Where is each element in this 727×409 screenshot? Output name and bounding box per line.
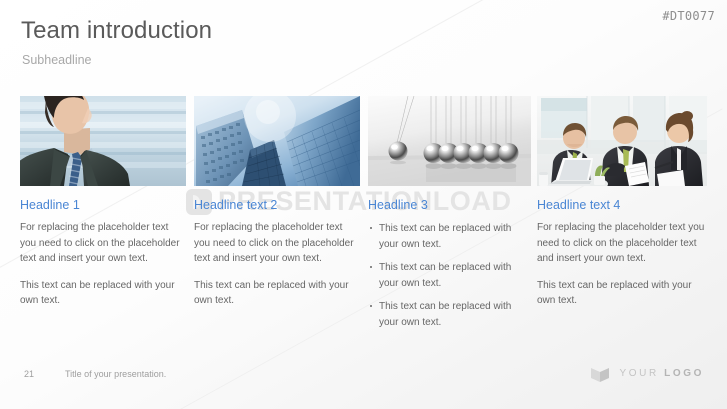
- page-title: Team introduction: [21, 18, 212, 44]
- businessman-portrait-photo: [20, 96, 186, 186]
- column-headline: Headline 1: [20, 198, 186, 213]
- content-column-2: Headline text 2 For replacing the placeh…: [194, 96, 360, 309]
- column-headline: Headline text 4: [537, 198, 707, 213]
- cube-icon: [589, 362, 611, 384]
- page-number: 21: [24, 369, 34, 379]
- logo-text: YOUR LOGO: [619, 368, 704, 379]
- logo-text-light: YOUR: [619, 368, 658, 379]
- list-item: This text can be replaced with your own …: [368, 260, 531, 291]
- column-paragraph: For replacing the placeholder text you n…: [537, 220, 707, 267]
- company-logo: YOUR LOGO: [589, 362, 704, 384]
- content-column-1: Headline 1 For replacing the placeholder…: [20, 96, 186, 309]
- content-column-3: Headline 3 This text can be replaced wit…: [368, 96, 531, 338]
- column-paragraph-secondary: This text can be replaced with your own …: [537, 278, 707, 309]
- page-subtitle: Subheadline: [22, 53, 92, 67]
- column-paragraph: For replacing the placeholder text you n…: [20, 220, 186, 267]
- list-item: This text can be replaced with your own …: [368, 299, 531, 330]
- list-item: This text can be replaced with your own …: [368, 221, 531, 252]
- column-paragraph-secondary: This text can be replaced with your own …: [20, 278, 186, 309]
- business-meeting-photo: [537, 96, 707, 186]
- column-paragraph-secondary: This text can be replaced with your own …: [194, 278, 360, 309]
- template-id-label: #DT0077: [662, 9, 715, 23]
- logo-text-bold: LOGO: [664, 368, 704, 379]
- column-bullet-list: This text can be replaced with your own …: [368, 221, 531, 330]
- footer-presentation-title: Title of your presentation.: [65, 369, 166, 379]
- presentation-slide: Team introduction Subheadline #DT0077 PR…: [0, 0, 727, 409]
- content-column-4: Headline text 4 For replacing the placeh…: [537, 96, 707, 309]
- skyscrapers-photo: [194, 96, 360, 186]
- newtons-cradle-photo: [368, 96, 531, 186]
- column-headline: Headline text 2: [194, 198, 360, 213]
- column-paragraph: For replacing the placeholder text you n…: [194, 220, 360, 267]
- column-headline: Headline 3: [368, 198, 531, 213]
